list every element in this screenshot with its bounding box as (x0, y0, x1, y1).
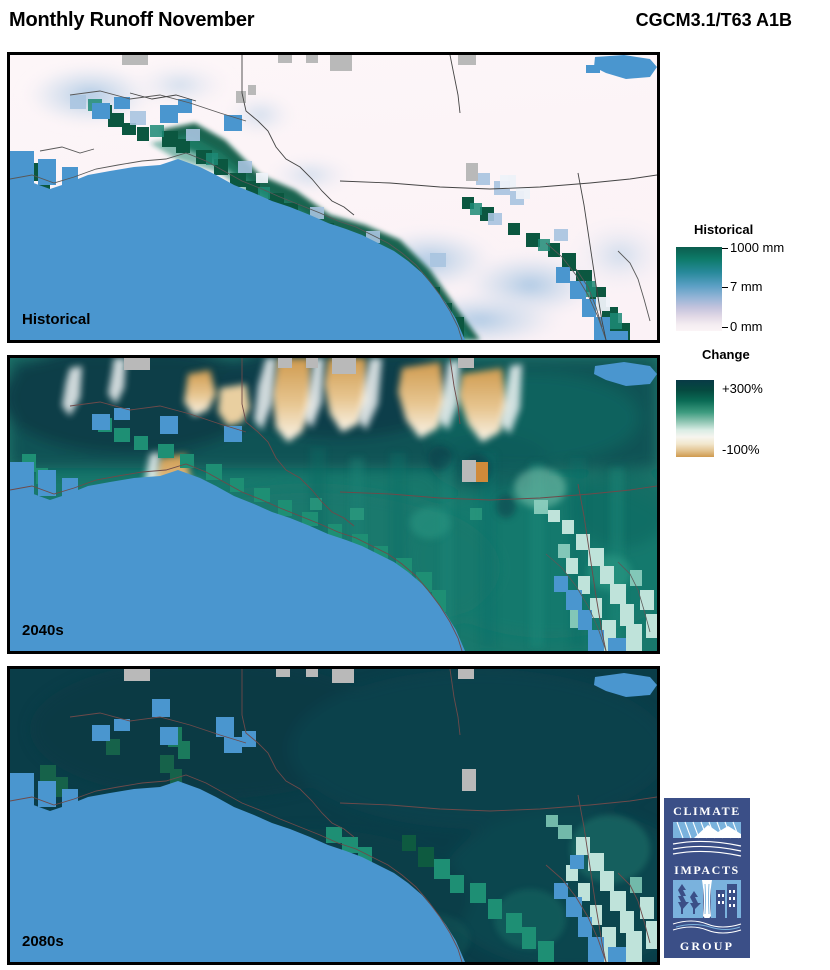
panel-label-historical: Historical (22, 311, 90, 328)
tick-dash-hist-mid (722, 287, 728, 288)
model-scenario-label: CGCM3.1/T63 A1B (636, 10, 792, 31)
tick-dash-hist-min (722, 327, 728, 328)
legend-tick-change-max: +300% (722, 381, 763, 396)
map-panel-2080s[interactable]: 2080s (7, 666, 660, 965)
page-title: Monthly Runoff November (9, 9, 254, 32)
panel-label-2080s: 2080s (22, 933, 64, 950)
legend-tick-hist-mid: 7 mm (730, 279, 763, 294)
climate-impacts-group-logo: CLIMATE IMPACTS (664, 798, 750, 958)
map-raster-historical (10, 55, 657, 340)
map-panel-2040s[interactable]: 2040s (7, 355, 660, 654)
logo-text-impacts: IMPACTS (674, 863, 740, 877)
legend-area: Historical 1000 mm 7 mm 0 mm Change +300… (664, 52, 830, 472)
map-raster-2080s (10, 669, 657, 962)
logo-text-climate: CLIMATE (673, 804, 741, 818)
legend-title-change: Change (702, 347, 750, 362)
colorbar-historical (676, 247, 722, 331)
logo-text-group: GROUP (680, 939, 734, 953)
legend-tick-hist-max: 1000 mm (730, 240, 784, 255)
legend-title-historical: Historical (694, 222, 753, 237)
map-raster-2040s (10, 358, 657, 651)
panel-label-2040s: 2040s (22, 622, 64, 639)
header: Monthly Runoff November CGCM3.1/T63 A1B (0, 0, 830, 48)
map-panel-historical[interactable]: Historical (7, 52, 660, 343)
colorbar-change (676, 380, 714, 457)
legend-tick-change-min: -100% (722, 442, 760, 457)
legend-tick-hist-min: 0 mm (730, 319, 763, 334)
tick-dash-hist-max (722, 248, 728, 249)
